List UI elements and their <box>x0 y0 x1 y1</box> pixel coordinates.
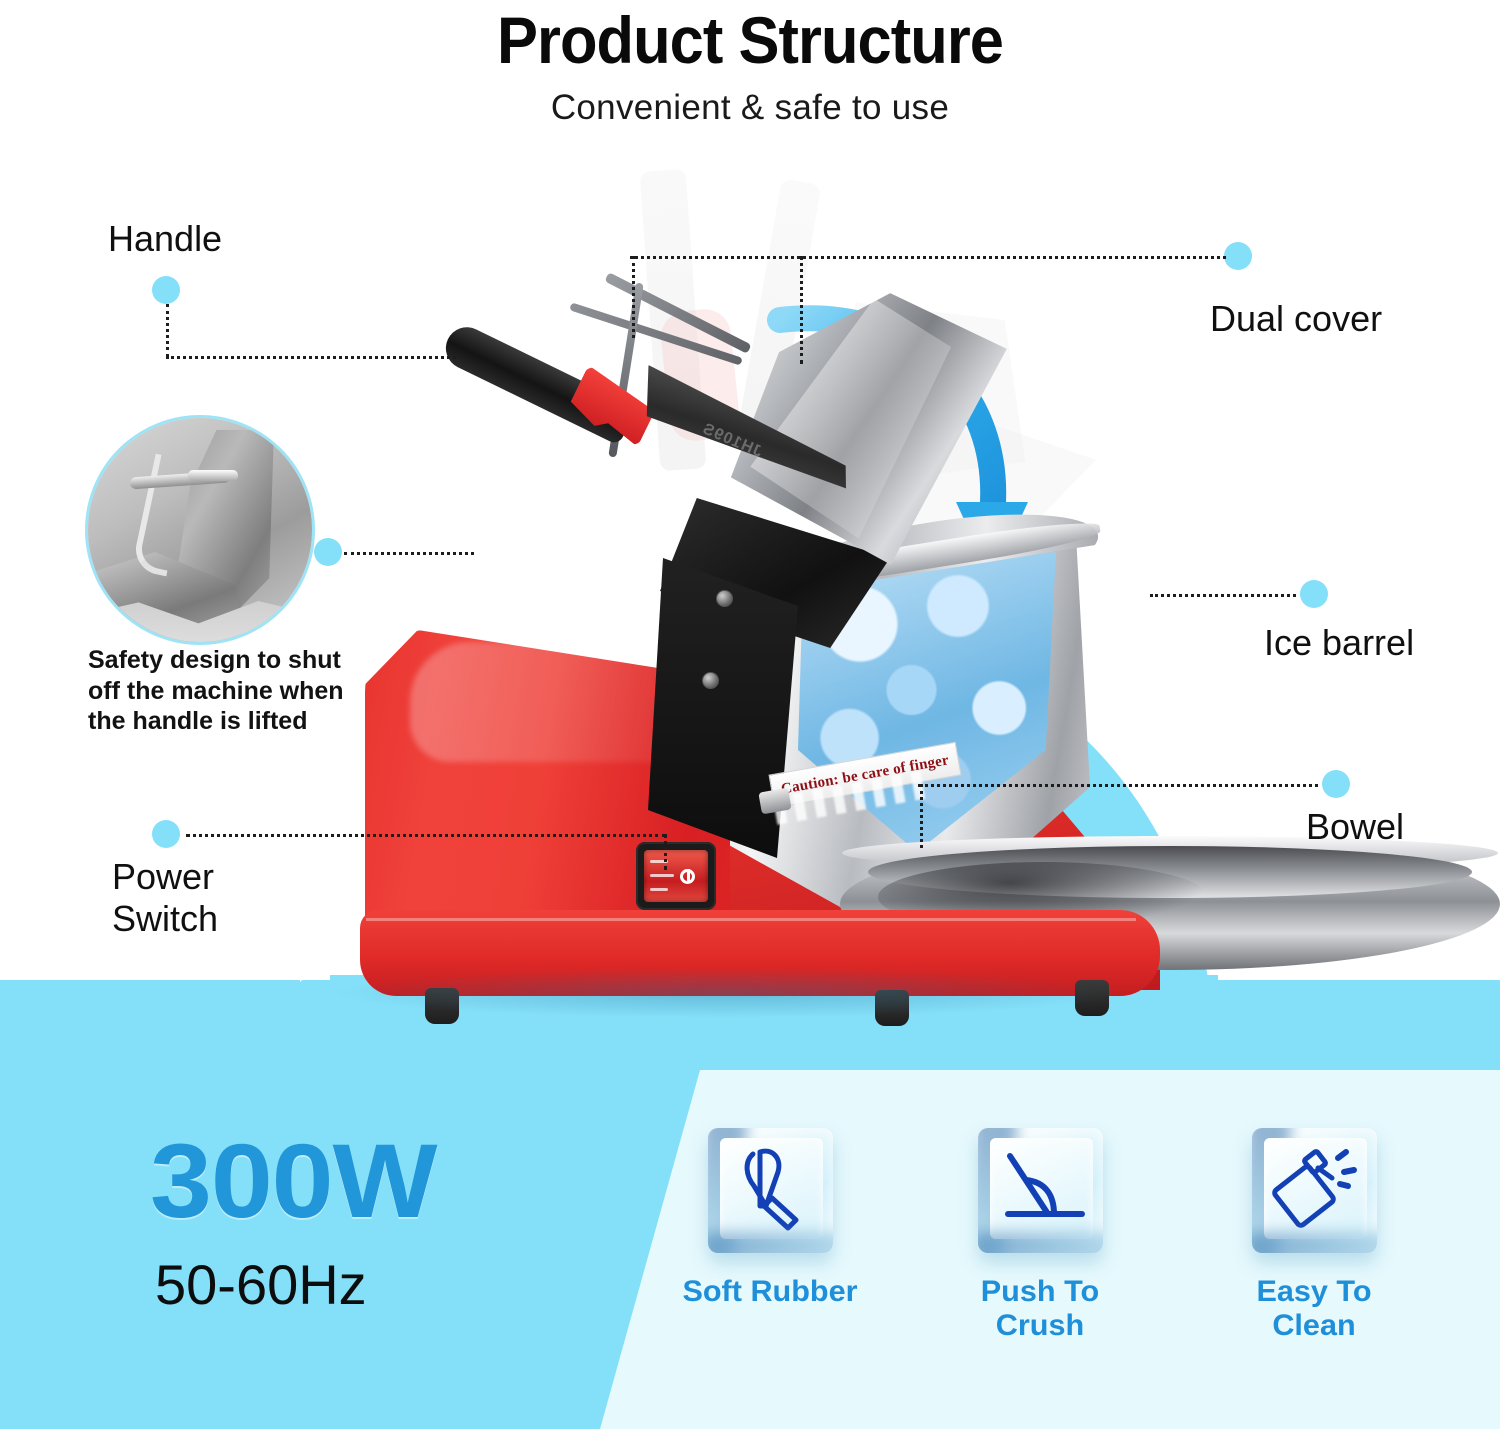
callout-label-power-switch-line-1: Power <box>112 856 214 898</box>
page-subtitle: Convenient & safe to use <box>0 88 1500 128</box>
housing-screw-upper <box>716 590 733 607</box>
callout-line-dual-cover-horizontal <box>630 256 1226 259</box>
feature-tile-push-to-crush <box>978 1128 1103 1253</box>
ice-crusher-illustration: JH109S Caution: be care of finger <box>330 290 1210 1010</box>
callout-line-ice-barrel <box>1150 594 1296 597</box>
callout-line-bowel-horizontal <box>918 784 1318 787</box>
band-notch-left <box>0 940 330 980</box>
machine-base-seam <box>366 918 1136 921</box>
housing-screw-lower <box>702 672 719 689</box>
feature-item-soft-rubber: Soft Rubber <box>670 1128 870 1309</box>
power-spec-value: 300W <box>150 1122 437 1242</box>
feature-label-soft-rubber: Soft Rubber <box>668 1275 872 1309</box>
callout-line-power-switch-horizontal <box>186 834 666 837</box>
machine-drop-shadow <box>330 968 1120 1018</box>
power-switch-rocker[interactable] <box>644 850 708 902</box>
callout-line-handle-horizontal <box>166 356 456 359</box>
callout-label-bowel: Bowel <box>1306 806 1404 848</box>
callout-label-dual-cover: Dual cover <box>1210 298 1382 340</box>
callout-line-handle-vertical <box>166 304 169 357</box>
callout-label-ice-barrel: Ice barrel <box>1264 622 1414 664</box>
push-crush-icon <box>978 1128 1103 1253</box>
feature-tile-easy-to-clean <box>1252 1128 1377 1253</box>
feature-item-easy-to-clean: Easy To Clean <box>1214 1128 1414 1343</box>
callout-line-dual-cover-drop-1 <box>632 256 635 338</box>
callout-dot-safety <box>314 538 342 566</box>
feature-item-push-to-crush: Push To Crush <box>940 1128 1140 1343</box>
callout-dot-bowel <box>1322 770 1350 798</box>
infographic-canvas: Product Structure Convenient & safe to u… <box>0 0 1500 1429</box>
callout-dot-dual-cover <box>1224 242 1252 270</box>
safety-detail-photo <box>85 415 315 645</box>
callout-dot-handle <box>152 276 180 304</box>
feature-label-push-to-crush: Push To Crush <box>938 1275 1142 1343</box>
safety-photo-content <box>88 418 312 642</box>
switch-on-symbol <box>687 869 690 883</box>
callout-line-safety <box>344 552 474 555</box>
callout-line-dual-cover-drop-2 <box>800 256 803 364</box>
feature-label-easy-to-clean: Easy To Clean <box>1212 1275 1416 1343</box>
feature-tile-soft-rubber <box>708 1128 833 1253</box>
callout-label-power-switch-line-2: Switch <box>112 898 218 940</box>
callout-dot-ice-barrel <box>1300 580 1328 608</box>
spray-bottle-icon <box>1252 1128 1377 1253</box>
callout-label-safety: Safety design to shut off the machine wh… <box>88 645 378 737</box>
callout-line-bowel-drop <box>920 784 923 848</box>
callout-label-handle: Handle <box>108 218 222 260</box>
page-title: Product Structure <box>53 2 1448 78</box>
callout-dot-power-switch <box>152 820 180 848</box>
frequency-spec-value: 50-60Hz <box>155 1252 367 1317</box>
callout-line-power-switch-drop <box>664 834 667 870</box>
spatula-icon <box>708 1128 833 1253</box>
